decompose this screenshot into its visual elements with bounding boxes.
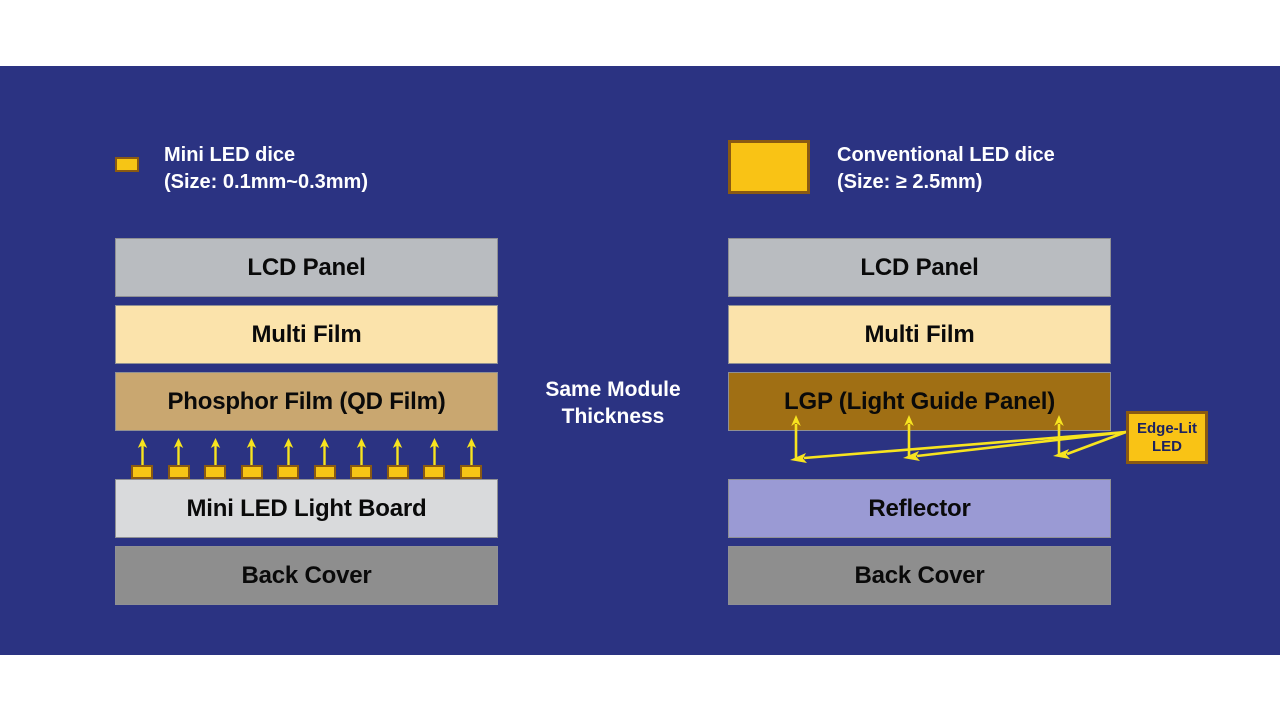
legend-mini-led-line2: (Size: 0.1mm~0.3mm)	[164, 169, 368, 196]
layer-label: Mini LED Light Board	[187, 495, 427, 523]
mini-led-up-arrow-icon	[172, 438, 185, 465]
layer-multi-film-right: Multi Film	[728, 305, 1111, 364]
legend-conventional-led-line2: (Size: ≥ 2.5mm)	[837, 169, 1055, 196]
edge-lit-led-callout: Edge-Lit LED	[1126, 411, 1208, 464]
edge-lit-led-line1: Edge-Lit	[1137, 420, 1197, 438]
mini-led-up-arrow-icon	[428, 438, 441, 465]
mini-led-die	[387, 465, 409, 479]
mini-led-backlight-stack: LCD Panel Multi Film Phosphor Film (QD F…	[115, 238, 498, 605]
mini-led-up-arrow-icon	[391, 438, 404, 465]
edge-lit-led-line2: LED	[1152, 438, 1182, 456]
slide-canvas: Mini LED dice (Size: 0.1mm~0.3mm) Conven…	[0, 0, 1280, 721]
mini-led-die	[277, 465, 299, 479]
layer-phosphor-film: Phosphor Film (QD Film)	[115, 372, 498, 431]
legend-conventional-led: Conventional LED dice (Size: ≥ 2.5mm)	[728, 140, 1055, 196]
mini-led-die	[350, 465, 372, 479]
mini-led-up-arrow-icon	[318, 438, 331, 465]
caption-line2: Thickness	[513, 403, 713, 430]
mini-led-die	[168, 465, 190, 479]
caption-line1: Same Module	[513, 376, 713, 403]
mini-led-swatch	[115, 157, 139, 172]
layer-multi-film-left: Multi Film	[115, 305, 498, 364]
mini-led-up-arrow-icon	[355, 438, 368, 465]
legend-mini-led-text: Mini LED dice (Size: 0.1mm~0.3mm)	[164, 142, 368, 196]
layer-label: Multi Film	[252, 321, 362, 349]
mini-led-dice-row	[115, 439, 498, 479]
layer-mini-led-light-board: Mini LED Light Board	[115, 479, 498, 538]
layer-label: Multi Film	[865, 321, 975, 349]
layer-lcd-panel-left: LCD Panel	[115, 238, 498, 297]
light-ray-gap	[728, 439, 1111, 479]
mini-led-up-arrow-icon	[136, 438, 149, 465]
mini-led-up-arrow-icon	[209, 438, 222, 465]
layer-lcd-panel-right: LCD Panel	[728, 238, 1111, 297]
mini-led-die	[423, 465, 445, 479]
mini-led-up-arrow-icon	[282, 438, 295, 465]
layer-label: Phosphor Film (QD Film)	[167, 388, 445, 416]
mini-led-die	[314, 465, 336, 479]
mini-led-die	[241, 465, 263, 479]
layer-label: Back Cover	[854, 562, 984, 590]
layer-reflector: Reflector	[728, 479, 1111, 538]
legend-conventional-led-line1: Conventional LED dice	[837, 142, 1055, 169]
conventional-led-swatch	[728, 140, 810, 194]
layer-light-guide-panel: LGP (Light Guide Panel)	[728, 372, 1111, 431]
legend-conventional-led-text: Conventional LED dice (Size: ≥ 2.5mm)	[837, 142, 1055, 196]
mini-led-up-arrow-icon	[465, 438, 478, 465]
mini-led-die	[460, 465, 482, 479]
layer-back-cover-left: Back Cover	[115, 546, 498, 605]
same-module-thickness-caption: Same Module Thickness	[513, 376, 713, 430]
mini-led-up-arrow-icon	[245, 438, 258, 465]
legend-mini-led-line1: Mini LED dice	[164, 142, 368, 169]
layer-label: Reflector	[868, 495, 970, 523]
layer-label: Back Cover	[241, 562, 371, 590]
layer-back-cover-right: Back Cover	[728, 546, 1111, 605]
legend-mini-led: Mini LED dice (Size: 0.1mm~0.3mm)	[115, 140, 368, 196]
mini-led-die	[204, 465, 226, 479]
layer-label: LCD Panel	[860, 254, 978, 282]
mini-led-die	[131, 465, 153, 479]
layer-label: LGP (Light Guide Panel)	[784, 388, 1055, 416]
layer-label: LCD Panel	[247, 254, 365, 282]
conventional-edge-lit-stack: LCD Panel Multi Film LGP (Light Guide Pa…	[728, 238, 1111, 605]
